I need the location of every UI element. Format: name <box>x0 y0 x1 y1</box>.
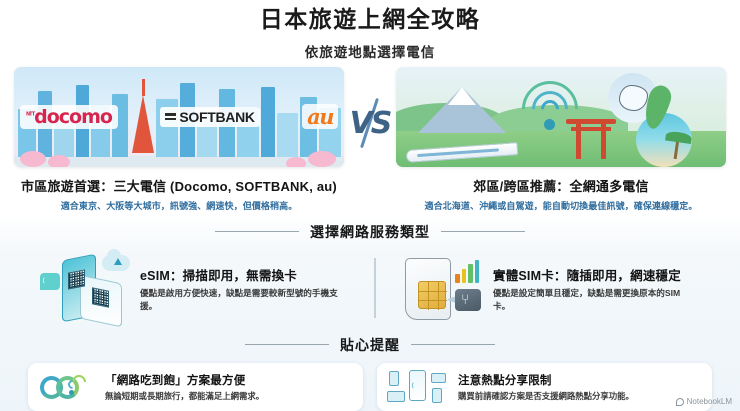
service-section-title: 選擇網路服務類型 <box>310 222 430 242</box>
tip-unlimited-heading: 「網路吃到飽」方案最方便 <box>105 372 264 388</box>
laptop-icon <box>387 391 405 402</box>
tips-row: 「網路吃到飽」方案最方便 無論短期或長期旅行，都能滿足上網需求。 注意熱點分享限… <box>0 363 740 411</box>
tip-card-hotspot-limit: 注意熱點分享限制 購買前請確認方案是否支援網路熱點分享功能。 <box>377 363 712 411</box>
cloud-upload-icon <box>102 255 130 271</box>
hotspot-devices-icon <box>387 369 449 405</box>
wifi-badge-icon <box>40 273 60 290</box>
service-divider <box>374 258 376 318</box>
qr-code-icon <box>68 269 85 289</box>
tokyo-cityscape-illustration: NTTdocomo SOFTBANK au <box>14 67 344 167</box>
infographic-page: 日本旅遊上網全攻略 依旅遊地點選擇電信 <box>0 0 740 411</box>
docomo-logo: NTTdocomo <box>20 105 118 129</box>
infinity-wifi-icon <box>38 370 96 404</box>
countryside-japan-illustration <box>396 67 726 167</box>
softbank-bars-icon <box>165 113 176 120</box>
tip-hotspot-body: 購買前請確認方案是否支援網路熱點分享功能。 <box>458 390 634 402</box>
phone-hotspot-icon <box>409 370 426 401</box>
divider-line-right <box>441 231 525 233</box>
sim-chip-icon <box>418 281 446 309</box>
vs-badge: VS <box>349 105 391 143</box>
urban-caption-sub: 適合東京、大阪等大城市，訊號強、網速快，但價格稍高。 <box>14 199 344 212</box>
tips-section-title: 貼心提醒 <box>340 335 400 355</box>
softbank-logo: SOFTBANK <box>160 107 259 127</box>
phone-small-icon <box>389 371 399 386</box>
tips-section-header: 貼心提醒 <box>0 335 740 355</box>
physical-sim-card-icon <box>401 253 485 325</box>
watermark-text: NotebookLM <box>687 397 732 406</box>
service-item-physical-sim: 實體SIM卡：隨插即用，網速穩定 優點是設定簡單且穩定，缺點是需更換原本的SIM… <box>379 250 740 328</box>
signal-bars-icon <box>455 261 479 283</box>
physical-sim-heading: 實體SIM卡：隨插即用，網速穩定 <box>493 265 693 284</box>
tip-hotspot-heading: 注意熱點分享限制 <box>458 372 634 388</box>
service-section-header: 選擇網路服務類型 <box>0 222 740 242</box>
service-item-esim: eSIM：掃描即用，無需換卡 優點是啟用方便快速，缺點是需要較新型號的手機支援。 <box>0 250 379 328</box>
page-title: 日本旅遊上網全攻略 <box>0 0 740 34</box>
rural-caption-sub: 適合北海道、沖繩或自駕遊，能自動切換最佳訊號，確保連線穩定。 <box>396 199 726 212</box>
comparison-section: NTTdocomo SOFTBANK au 市區旅遊首選：三大電信 (Docom… <box>0 67 740 215</box>
physical-sim-body: 優點是設定簡單且穩定，缺點是需更換原本的SIM卡。 <box>493 287 693 312</box>
qr-code-icon <box>92 287 109 308</box>
notebooklm-logo-icon <box>676 398 684 406</box>
rural-caption-heading: 郊區/跨區推薦：全網通多電信 <box>396 176 726 195</box>
torii-gate-icon <box>568 119 614 159</box>
esim-heading: eSIM：掃描即用，無需換卡 <box>140 265 340 284</box>
tablet-icon <box>431 373 446 383</box>
palm-tree-icon <box>674 138 680 158</box>
phone-right-icon <box>432 388 442 403</box>
divider-line-right <box>411 344 495 346</box>
comparison-panel-rural: 郊區/跨區推薦：全網通多電信 適合北海道、沖繩或自駕遊，能自動切換最佳訊號，確保… <box>396 67 726 212</box>
usb-dongle-icon <box>455 289 481 311</box>
divider-line-left <box>245 344 329 346</box>
tip-unlimited-body: 無論短期或長期旅行，都能滿足上網需求。 <box>105 390 264 402</box>
beach-scene-icon <box>636 113 692 167</box>
au-logo: au <box>302 104 338 129</box>
comparison-panel-urban: NTTdocomo SOFTBANK au 市區旅遊首選：三大電信 (Docom… <box>14 67 344 212</box>
esim-phone-qr-icon <box>40 253 132 325</box>
esim-body: 優點是啟用方便快速，缺點是需要較新型號的手機支援。 <box>140 287 340 312</box>
urban-caption-heading: 市區旅遊首選：三大電信 (Docomo, SOFTBANK, au) <box>14 176 344 195</box>
service-type-row: eSIM：掃描即用，無需換卡 優點是啟用方便快速，缺點是需要較新型號的手機支援。 <box>0 250 740 328</box>
page-subtitle: 依旅遊地點選擇電信 <box>0 41 740 61</box>
carrier-logo-row: NTTdocomo SOFTBANK au <box>14 97 344 137</box>
watermark: NotebookLM <box>676 397 732 406</box>
tip-card-unlimited-data: 「網路吃到飽」方案最方便 無論短期或長期旅行，都能滿足上網需求。 <box>28 363 363 411</box>
divider-line-left <box>215 231 299 233</box>
